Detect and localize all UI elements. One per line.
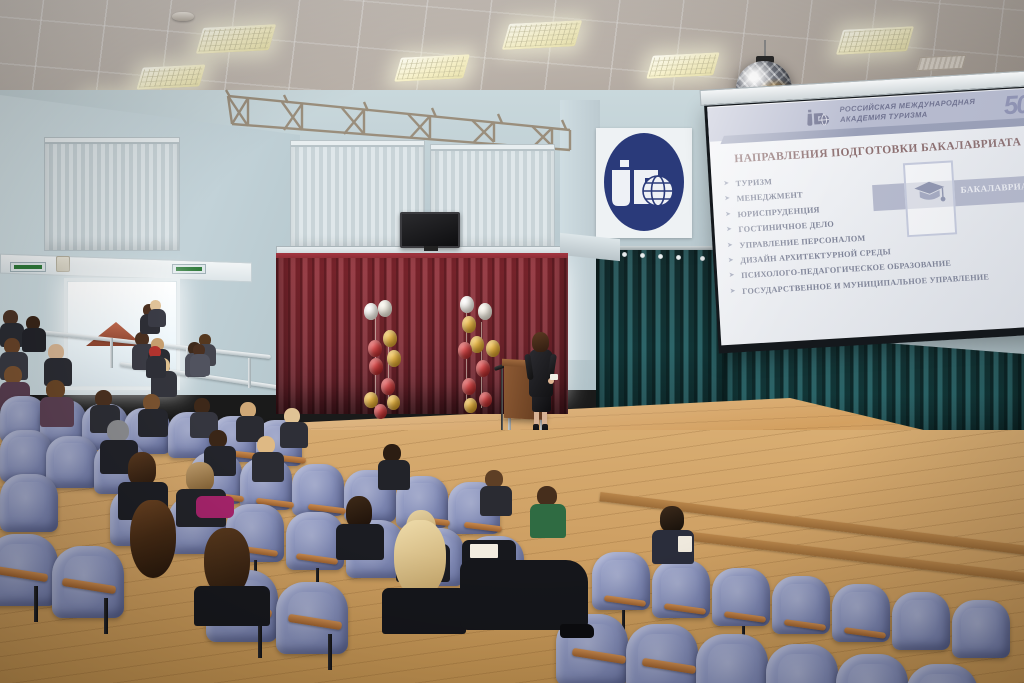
person-head bbox=[660, 506, 684, 532]
audience-member bbox=[480, 470, 514, 514]
ceiling-light-panel bbox=[196, 24, 277, 54]
balloon-white bbox=[478, 303, 492, 320]
audience-member bbox=[44, 344, 74, 384]
audience-member bbox=[336, 496, 386, 558]
vertical-blinds bbox=[44, 143, 180, 251]
balloon-gold bbox=[387, 395, 400, 410]
auditorium-seat[interactable] bbox=[892, 592, 950, 650]
balloon-gold bbox=[387, 350, 401, 367]
ceiling-light-panel bbox=[394, 54, 470, 82]
balloon-gold bbox=[383, 330, 397, 347]
person-body bbox=[480, 486, 512, 516]
balloon-white bbox=[378, 300, 392, 317]
rmat-emblem-glyph bbox=[608, 146, 680, 220]
auditorium-seat[interactable] bbox=[0, 474, 58, 532]
smoke-detector-icon bbox=[172, 12, 194, 21]
audience-member bbox=[194, 528, 272, 624]
person-body bbox=[382, 588, 466, 634]
exit-sign bbox=[172, 264, 206, 274]
curtain-grommet bbox=[658, 254, 663, 259]
balloon-red bbox=[476, 360, 490, 377]
person-body bbox=[530, 504, 566, 538]
auditorium-seat[interactable] bbox=[766, 644, 838, 683]
auditorium-seat[interactable] bbox=[906, 664, 978, 683]
balloon-red bbox=[381, 378, 395, 395]
person-head bbox=[394, 520, 446, 598]
ceiling-light-panel bbox=[136, 64, 205, 89]
balloon-gold bbox=[486, 340, 500, 357]
air-vent bbox=[916, 55, 967, 71]
person-shoe bbox=[560, 624, 594, 638]
exit-sign bbox=[10, 262, 46, 272]
audience-member bbox=[148, 300, 168, 326]
person-body bbox=[148, 309, 166, 327]
audience-member bbox=[382, 520, 468, 630]
person-head bbox=[130, 500, 176, 578]
person-scarf bbox=[196, 496, 234, 518]
auditorium-seat[interactable] bbox=[696, 634, 768, 683]
auditorium-scene: РОССИЙСКАЯ МЕЖДУНАРОДНАЯ АКАДЕМИЯ ТУРИЗМ… bbox=[0, 0, 1024, 683]
curtain-grommet bbox=[700, 256, 705, 261]
curtain-grommet bbox=[676, 255, 681, 260]
ceiling-light-panel bbox=[646, 52, 720, 78]
person-body bbox=[336, 524, 384, 560]
balloon-gold bbox=[464, 398, 477, 413]
handrail-post bbox=[110, 338, 113, 368]
balloon-white bbox=[460, 296, 474, 313]
person-head bbox=[186, 462, 214, 492]
slide-bullet-list: ТУРИЗМ МЕНЕДЖМЕНТ ЮРИСПРУДЕНЦИЯ ГОСТИНИЧ… bbox=[724, 163, 1011, 303]
balloon-gold bbox=[470, 336, 484, 353]
balloon-white bbox=[364, 303, 378, 320]
presenter-notes bbox=[550, 374, 558, 380]
audience-member bbox=[138, 394, 170, 434]
balloon-red bbox=[462, 378, 476, 395]
ceiling-light-panel bbox=[502, 20, 583, 50]
seat-leg bbox=[34, 586, 38, 622]
person-body bbox=[40, 397, 74, 427]
balloon-red bbox=[369, 358, 383, 375]
ceiling-light-panel bbox=[836, 26, 914, 55]
slide-surface: РОССИЙСКАЯ МЕЖДУНАРОДНАЯ АКАДЕМИЯ ТУРИЗМ… bbox=[707, 88, 1024, 346]
auditorium-seat[interactable] bbox=[836, 654, 908, 683]
seat-leg bbox=[104, 598, 108, 634]
person-head bbox=[128, 452, 156, 486]
auditorium-seat[interactable] bbox=[952, 600, 1010, 658]
person-body bbox=[194, 586, 270, 626]
tv-stand bbox=[424, 246, 438, 251]
balloon-red bbox=[458, 342, 472, 359]
balloon-red bbox=[368, 340, 382, 357]
wall-speaker bbox=[56, 256, 70, 272]
handrail-post bbox=[248, 358, 251, 388]
person-body bbox=[138, 409, 168, 437]
audience-member bbox=[252, 436, 286, 480]
balloon-red bbox=[374, 404, 387, 419]
person-head bbox=[107, 420, 129, 442]
person-body bbox=[378, 460, 410, 490]
person-body bbox=[190, 354, 210, 376]
audience-member bbox=[190, 344, 212, 374]
audience-member bbox=[236, 402, 266, 440]
person-body bbox=[460, 560, 588, 630]
person-body bbox=[146, 356, 166, 378]
audience-member bbox=[40, 380, 76, 424]
audience-member bbox=[120, 500, 190, 590]
audience-member bbox=[652, 506, 696, 562]
audience-member bbox=[146, 346, 168, 376]
curtain-grommet bbox=[622, 252, 627, 257]
curtain-grommet bbox=[640, 253, 645, 258]
balloon-red bbox=[479, 392, 492, 407]
person-notebook bbox=[470, 544, 498, 558]
seat-leg bbox=[328, 634, 332, 670]
projector-screen[interactable]: РОССИЙСКАЯ МЕЖДУНАРОДНАЯ АКАДЕМИЯ ТУРИЗМ… bbox=[704, 84, 1024, 353]
anniversary-badge: 50 bbox=[1003, 89, 1024, 121]
slide-logo-icon bbox=[805, 106, 832, 128]
audience-member bbox=[378, 444, 412, 488]
balloon-gold bbox=[462, 316, 476, 333]
audience-member bbox=[460, 560, 590, 650]
presenter-hair bbox=[532, 332, 549, 352]
auditorium-seat[interactable] bbox=[626, 624, 698, 683]
audience-member bbox=[530, 486, 568, 536]
wall-mounted-tv bbox=[400, 212, 460, 248]
person-head bbox=[537, 486, 557, 506]
seat-leg bbox=[258, 622, 262, 658]
person-body bbox=[252, 452, 284, 482]
person-papers bbox=[678, 536, 692, 552]
